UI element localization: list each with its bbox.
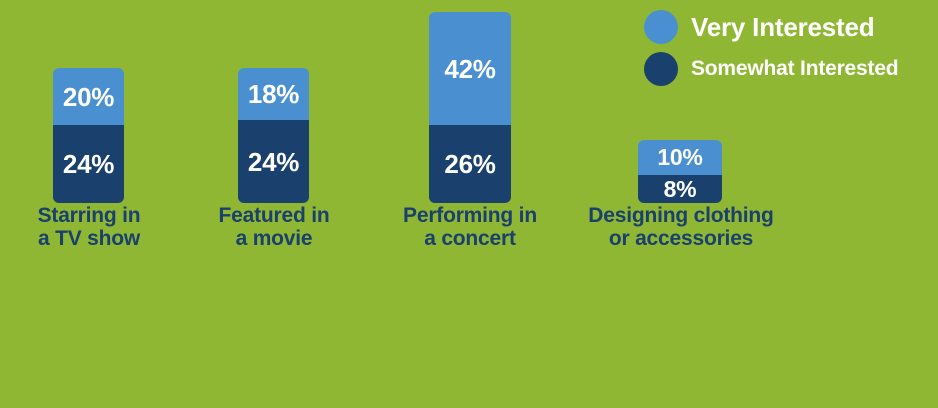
category-label-performing-in-a-concert: Performing in a concert — [389, 205, 551, 250]
bar-value-label-very: 42% — [444, 56, 495, 82]
bar-value-label-very: 18% — [248, 81, 299, 107]
legend-swatch-circle-icon — [644, 52, 678, 86]
bar-value-label-somewhat: 24% — [248, 149, 299, 175]
bar-segment-very-interested[interactable]: 20% — [53, 68, 124, 125]
bar-segment-very-interested[interactable]: 10% — [638, 140, 722, 175]
bar-value-label-somewhat: 8% — [664, 178, 697, 201]
bar-segment-somewhat-interested[interactable]: 8% — [638, 175, 722, 203]
bar-stack: 10% 8% — [638, 140, 722, 203]
bar-segment-somewhat-interested[interactable]: 24% — [53, 125, 124, 203]
bar-stack: 42% 26% — [429, 12, 511, 203]
category-label-starring-in-a-tv-show: Starring in a TV show — [18, 205, 160, 250]
legend-item-somewhat-interested[interactable]: Somewhat Interested — [644, 52, 934, 86]
bar-group-starring-in-a-tv-show: 20% 24% — [53, 68, 124, 203]
category-label-featured-in-a-movie: Featured in a movie — [203, 205, 345, 250]
legend-item-very-interested[interactable]: Very Interested — [644, 10, 934, 44]
bar-segment-somewhat-interested[interactable]: 24% — [238, 120, 309, 203]
legend-swatch-circle-icon — [644, 10, 678, 44]
bar-value-label-somewhat: 26% — [444, 151, 495, 177]
legend-label-somewhat-interested: Somewhat Interested — [691, 57, 898, 81]
bar-group-designing-clothing-or-accessories: 10% 8% — [638, 140, 722, 203]
category-label-designing-clothing-or-accessories: Designing clothing or accessories — [566, 205, 796, 250]
stacked-bar-chart: 20% 24% Starring in a TV show 18% 24% Fe… — [0, 0, 938, 408]
bar-segment-somewhat-interested[interactable]: 26% — [429, 125, 511, 203]
bar-value-label-very: 20% — [63, 84, 114, 110]
chart-legend: Very Interested Somewhat Interested — [644, 10, 934, 94]
bar-segment-very-interested[interactable]: 42% — [429, 12, 511, 125]
bar-value-label-somewhat: 24% — [63, 151, 114, 177]
bar-group-performing-in-a-concert: 42% 26% — [429, 12, 511, 203]
bar-group-featured-in-a-movie: 18% 24% — [238, 68, 309, 203]
bar-segment-very-interested[interactable]: 18% — [238, 68, 309, 120]
legend-label-very-interested: Very Interested — [691, 12, 874, 43]
bar-stack: 18% 24% — [238, 68, 309, 203]
bar-stack: 20% 24% — [53, 68, 124, 203]
bar-value-label-very: 10% — [657, 146, 702, 169]
